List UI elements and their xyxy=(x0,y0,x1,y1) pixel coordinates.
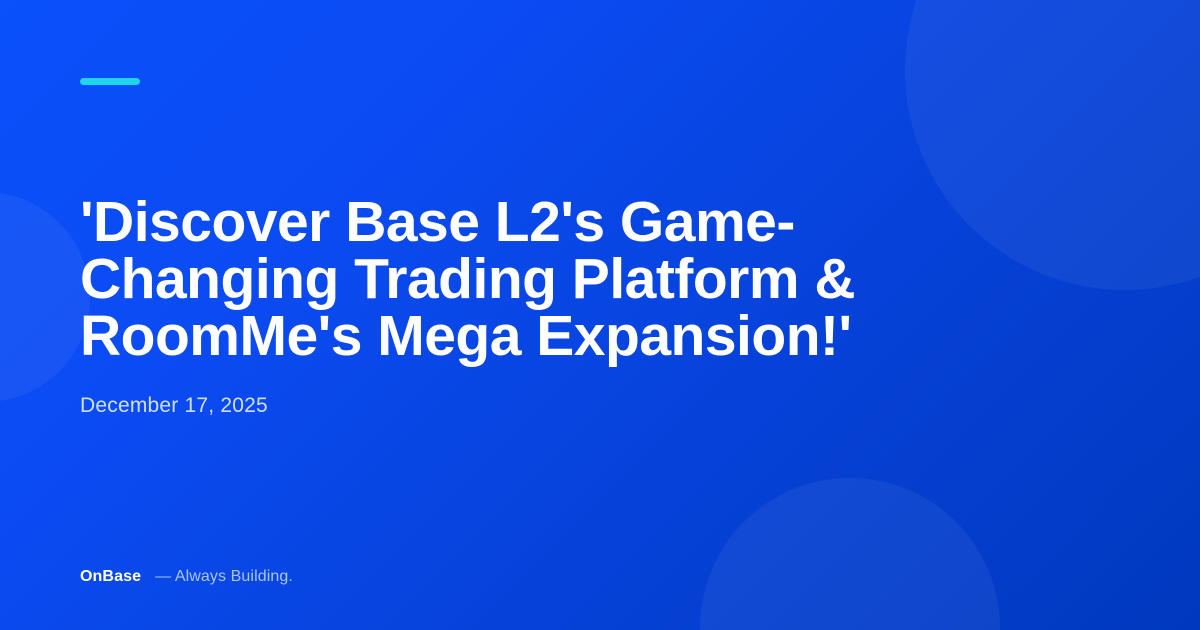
social-share-card: 'Discover Base L2's Game-Changing Tradin… xyxy=(0,0,1200,630)
page-title: 'Discover Base L2's Game-Changing Tradin… xyxy=(80,194,1010,365)
publish-date: December 17, 2025 xyxy=(80,392,268,420)
card-content: 'Discover Base L2's Game-Changing Tradin… xyxy=(0,0,1200,630)
footer: OnBase — Always Building. xyxy=(80,566,293,588)
accent-bar xyxy=(80,78,140,85)
brand-tagline: — Always Building. xyxy=(155,566,293,588)
brand-name: OnBase xyxy=(80,566,141,588)
